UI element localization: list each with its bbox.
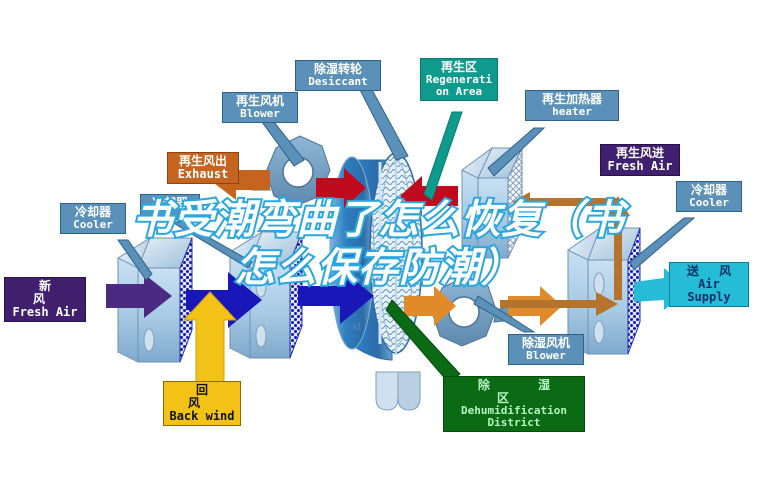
label-fresh-air: 新 风 Fresh Air: [4, 277, 86, 322]
label-cooler-mid-cn: 冷却器: [145, 197, 195, 210]
label-regen-area-cn: 再生区: [425, 61, 493, 74]
label-dehum-blower: 除湿风机 Blower: [508, 334, 584, 365]
label-regen-fresh-air-en: Fresh Air: [605, 160, 675, 173]
label-back-wind: 回 风 Back wind: [163, 381, 241, 426]
label-regen-fresh-air: 再生风进 Fresh Air: [600, 144, 680, 176]
label-exhaust-en: Exhaust: [172, 168, 234, 181]
label-regen-area-en: Regenerati on Area: [425, 74, 493, 98]
rotor-watermark: xt: [352, 319, 362, 333]
label-cooler-left: 冷却器 Cooler: [60, 203, 126, 234]
label-regen-heater-en: heater: [530, 106, 614, 118]
label-regen-blower-en: Blower: [227, 108, 293, 120]
label-desiccant-en: Desiccant: [300, 76, 376, 88]
label-cooler-right-cn: 冷却器: [681, 184, 737, 197]
label-back-wind-en: Back wind: [168, 410, 236, 423]
label-fresh-air-cn: 新 风: [9, 280, 81, 306]
label-dehum-district: 除 湿 区 Dehumidification District: [443, 376, 585, 432]
label-cooler-mid: 冷却器: [140, 194, 200, 220]
label-cooler-left-cn: 冷却器: [65, 206, 121, 219]
label-air-supply-en: Air Supply: [674, 278, 744, 304]
label-regen-heater-cn: 再生加热器: [530, 93, 614, 106]
label-cooler-left-en: Cooler: [65, 219, 121, 231]
diagram-canvas: xt 除湿转轮 Desiccant 再生风机 Blower 再生区 Regene…: [0, 0, 757, 488]
label-air-supply: 送 风 Air Supply: [669, 262, 749, 307]
label-cooler-right-en: Cooler: [681, 197, 737, 209]
label-regen-area: 再生区 Regenerati on Area: [420, 58, 498, 101]
label-dehum-district-cn: 除 湿 区: [448, 379, 580, 405]
label-air-supply-cn: 送 风: [674, 265, 744, 278]
label-cooler-right: 冷却器 Cooler: [676, 181, 742, 212]
label-regen-blower-cn: 再生风机: [227, 95, 293, 108]
label-fresh-air-en: Fresh Air: [9, 306, 81, 319]
label-dehum-blower-cn: 除湿风机: [513, 337, 579, 350]
label-regen-fresh-air-cn: 再生风进: [605, 147, 675, 160]
label-desiccant: 除湿转轮 Desiccant: [295, 60, 381, 91]
label-exhaust-cn: 再生风出: [172, 155, 234, 168]
label-regen-heater: 再生加热器 heater: [525, 90, 619, 121]
label-dehum-blower-en: Blower: [513, 350, 579, 362]
label-regen-blower: 再生风机 Blower: [222, 92, 298, 123]
label-back-wind-cn: 回 风: [168, 384, 236, 410]
arrow-regen-intake-1: [512, 192, 618, 212]
label-dehum-district-en: Dehumidification District: [448, 405, 580, 429]
label-exhaust: 再生风出 Exhaust: [167, 152, 239, 184]
label-desiccant-cn: 除湿转轮: [300, 63, 376, 76]
